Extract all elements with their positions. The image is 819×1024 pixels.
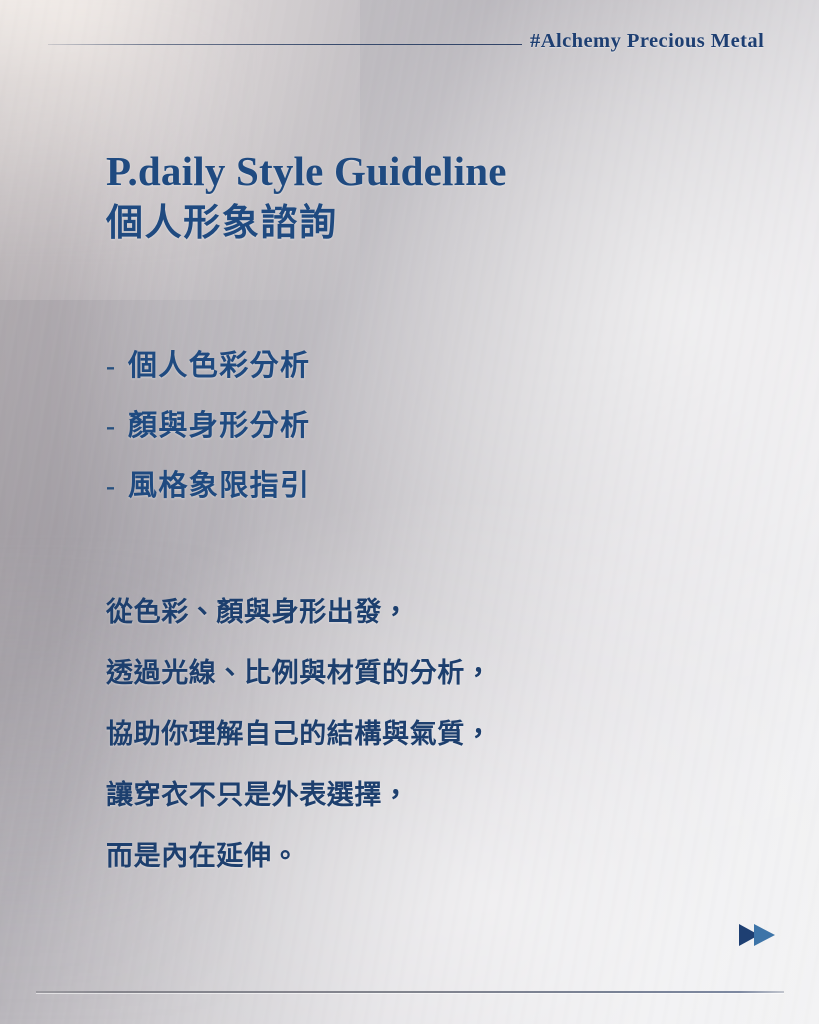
brand-hashtag: #Alchemy Precious Metal <box>530 30 764 53</box>
paragraph-line: 而是內在延伸。 <box>106 826 492 887</box>
bullet-dash-icon: - <box>106 411 128 442</box>
page-title: P.daily Style Guideline 個人形象諮詢 <box>106 148 507 247</box>
list-item: - 顏與身形分析 <box>106 402 310 462</box>
service-list: - 個人色彩分析 - 顏與身形分析 - 風格象限指引 <box>106 342 310 522</box>
style-guideline-slide: #Alchemy Precious Metal P.daily Style Gu… <box>0 0 819 1024</box>
title-chinese: 個人形象諮詢 <box>106 201 507 247</box>
slide-content: #Alchemy Precious Metal P.daily Style Gu… <box>0 0 819 1024</box>
paragraph-line: 協助你理解自己的結構與氣質， <box>106 704 492 765</box>
description-paragraph: 從色彩、顏與身形出發， 透過光線、比例與材質的分析， 協助你理解自己的結構與氣質… <box>106 582 492 887</box>
paragraph-line: 透過光線、比例與材質的分析， <box>106 643 492 704</box>
next-slide-button[interactable] <box>737 920 779 950</box>
title-english: P.daily Style Guideline <box>106 148 507 196</box>
paragraph-line: 讓穿衣不只是外表選擇， <box>106 765 492 826</box>
list-item: - 風格象限指引 <box>106 462 310 522</box>
paragraph-line: 從色彩、顏與身形出發， <box>106 582 492 643</box>
footer-divider <box>36 991 784 993</box>
double-chevron-right-icon <box>737 920 779 950</box>
list-item: - 個人色彩分析 <box>106 342 310 402</box>
list-item-label: 顏與身形分析 <box>128 402 310 444</box>
list-item-label: 風格象限指引 <box>128 462 310 504</box>
header-divider <box>48 44 522 45</box>
bullet-dash-icon: - <box>106 471 128 502</box>
bullet-dash-icon: - <box>106 351 128 382</box>
list-item-label: 個人色彩分析 <box>128 342 310 384</box>
slide-header: #Alchemy Precious Metal <box>0 30 819 64</box>
